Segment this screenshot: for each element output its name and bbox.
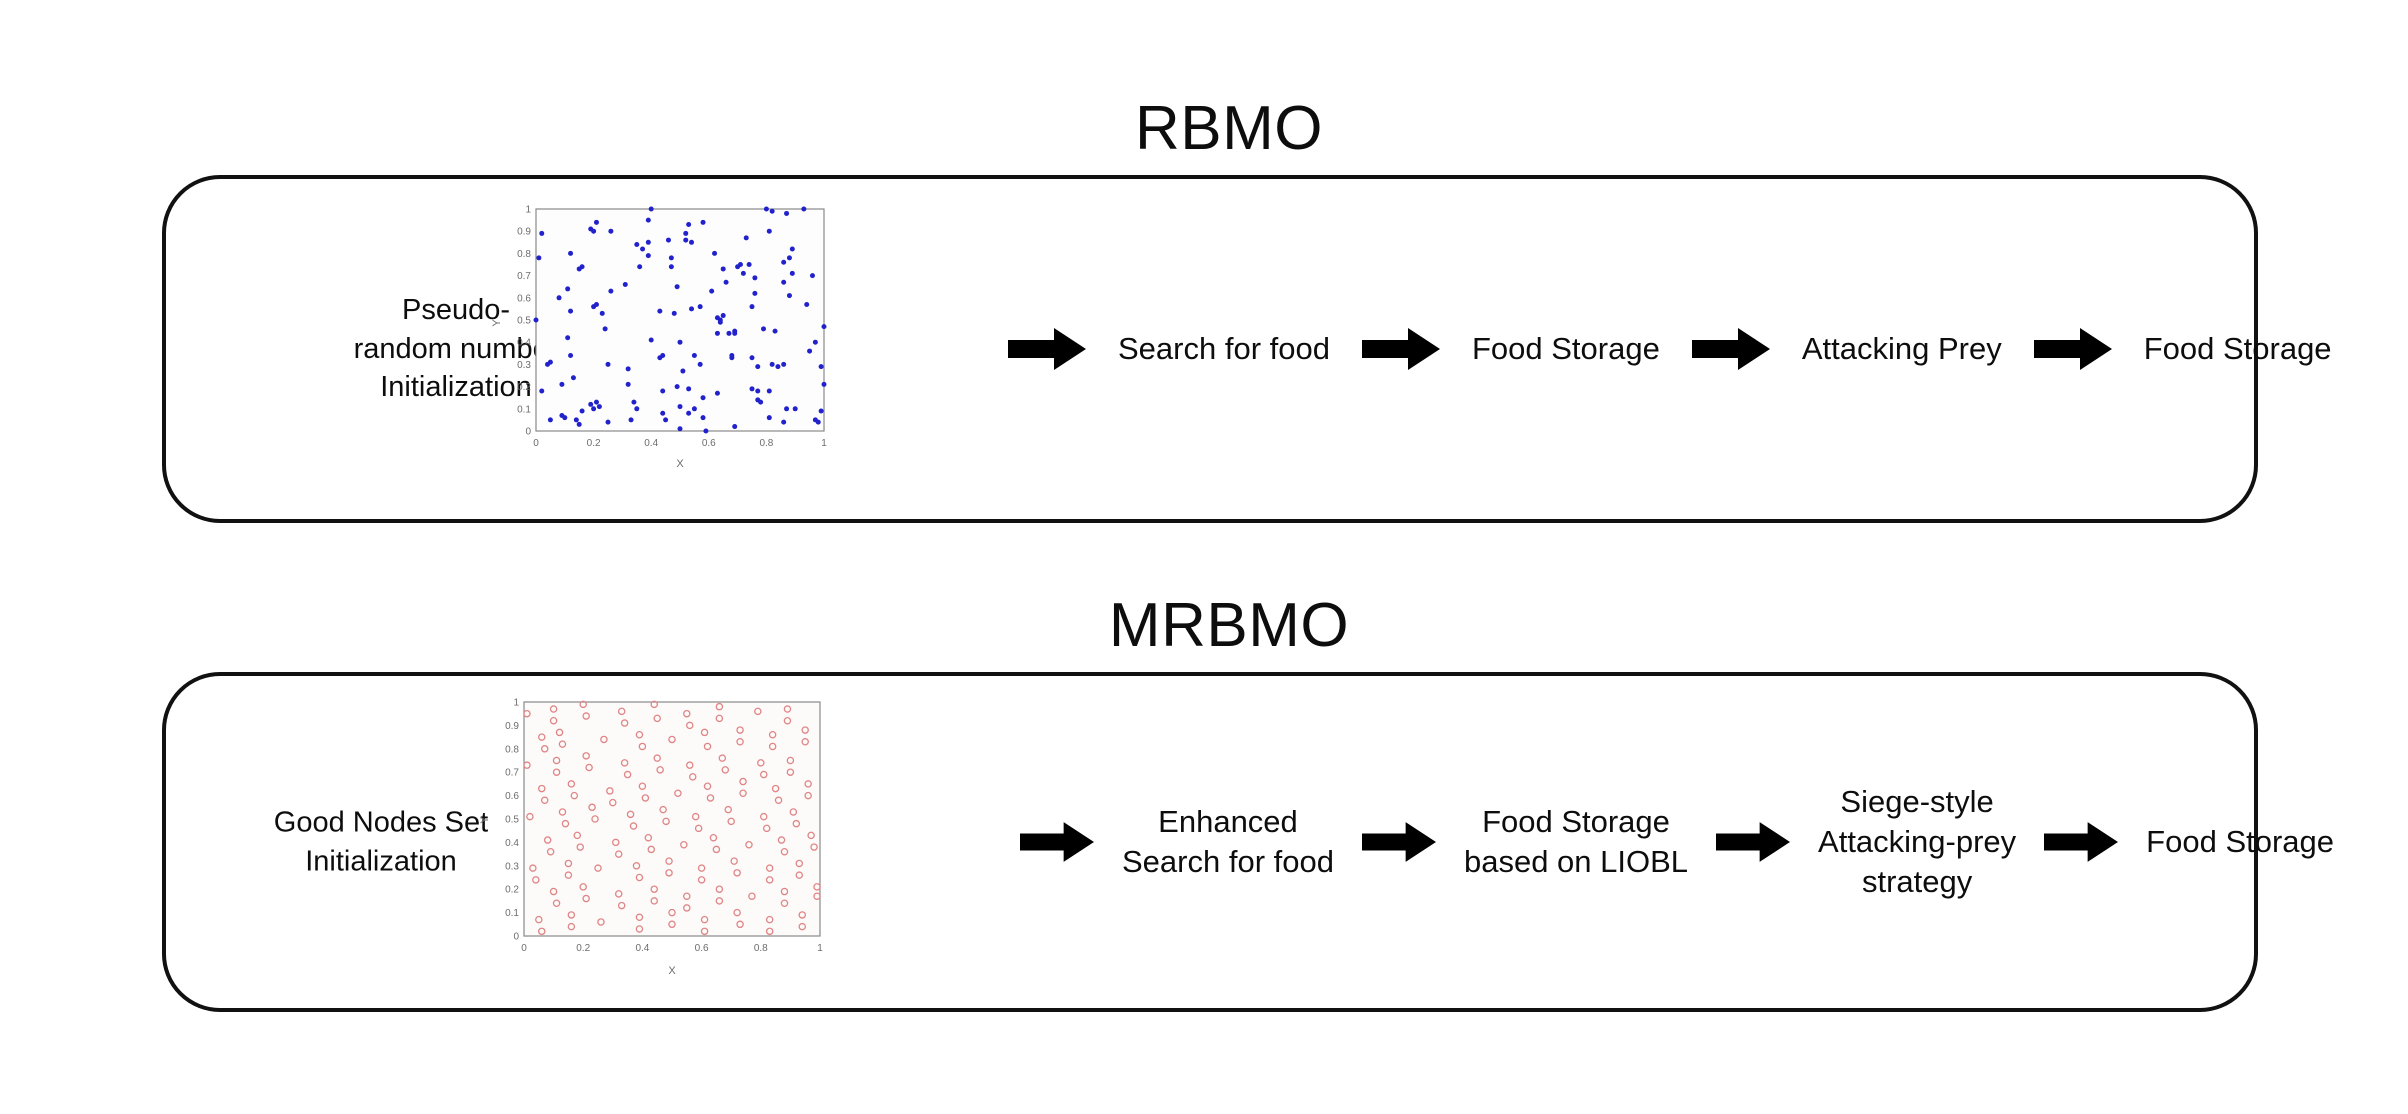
- svg-text:0.4: 0.4: [505, 838, 519, 849]
- svg-text:0.2: 0.2: [505, 885, 519, 896]
- section-title-rbmo: RBMO: [25, 98, 2408, 160]
- svg-text:1: 1: [817, 943, 823, 954]
- svg-text:1: 1: [525, 205, 531, 216]
- pipeline-row-mrbmo: Good Nodes Set Initialization 00.20.40.6…: [166, 676, 2254, 1008]
- svg-text:0.8: 0.8: [505, 744, 519, 755]
- plot-frame-rbmo: [536, 209, 824, 431]
- pipeline-step-label: Food Storage: [1472, 329, 1660, 369]
- arrow-right-icon: [1008, 326, 1086, 372]
- svg-text:0.9: 0.9: [517, 227, 531, 238]
- svg-text:0.6: 0.6: [517, 293, 531, 304]
- pipeline-step-label: Food Storage: [2144, 329, 2332, 369]
- pipeline-step-label: Enhanced Search for food: [1122, 802, 1334, 881]
- svg-text:0.2: 0.2: [576, 943, 590, 954]
- plot-yaxis-label-mrbmo: Y: [479, 816, 491, 824]
- svg-text:0.7: 0.7: [517, 271, 531, 282]
- svg-text:0: 0: [513, 932, 519, 943]
- arrow-right-icon: [1020, 820, 1094, 864]
- plot-xaxis-label-rbmo: X: [676, 458, 684, 470]
- svg-text:0.8: 0.8: [759, 438, 773, 449]
- svg-text:0.5: 0.5: [517, 316, 531, 327]
- svg-text:0.3: 0.3: [517, 360, 531, 371]
- pipeline-step-label: Food Storage based on LIOBL: [1464, 802, 1688, 881]
- svg-text:0.2: 0.2: [517, 382, 531, 393]
- svg-text:1: 1: [821, 438, 827, 449]
- svg-text:0: 0: [525, 427, 531, 438]
- arrow-right-icon: [2044, 820, 2118, 864]
- svg-text:0.1: 0.1: [505, 908, 519, 919]
- pipeline-row-rbmo: Pseudo- random number Initialization 00.…: [166, 179, 2254, 519]
- svg-text:0.5: 0.5: [505, 815, 519, 826]
- pipeline-step-label: Siege-style Attacking-prey strategy: [1818, 782, 2016, 901]
- scatter-plot-svg-mrbmo: 00.20.40.60.81 00.10.20.30.40.50.60.70.8…: [466, 688, 844, 990]
- scatter-plot-svg-rbmo: 00.20.40.60.81 00.10.20.30.40.50.60.70.8…: [478, 195, 838, 481]
- section-title-mrbmo: MRBMO: [25, 595, 2408, 657]
- plot-frame-mrbmo: [524, 702, 820, 936]
- plot-xaxis-label-mrbmo: X: [668, 965, 676, 977]
- svg-text:0.7: 0.7: [505, 768, 519, 779]
- scatter-plot-random-initialization: 00.20.40.60.81 00.10.20.30.40.50.60.70.8…: [478, 195, 838, 481]
- svg-text:1: 1: [513, 698, 519, 709]
- svg-text:0: 0: [521, 943, 527, 954]
- arrow-right-icon: [1362, 820, 1436, 864]
- arrow-right-icon: [1362, 326, 1440, 372]
- svg-text:0.9: 0.9: [505, 721, 519, 732]
- svg-text:0.2: 0.2: [587, 438, 601, 449]
- svg-text:0.6: 0.6: [702, 438, 716, 449]
- pipeline-box-mrbmo: Good Nodes Set Initialization 00.20.40.6…: [162, 672, 2258, 1012]
- svg-text:0.6: 0.6: [505, 791, 519, 802]
- pipeline-step-label: Search for food: [1118, 329, 1330, 369]
- scatter-plot-good-nodes-set: 00.20.40.60.81 00.10.20.30.40.50.60.70.8…: [466, 688, 844, 990]
- svg-text:0.4: 0.4: [517, 338, 531, 349]
- svg-text:0.1: 0.1: [517, 404, 531, 415]
- pipeline-steps-mrbmo: Enhanced Search for food Food Storage ba…: [1014, 676, 2236, 1008]
- diagram-canvas: RBMO Pseudo- random number Initializatio…: [0, 0, 2408, 1114]
- svg-text:0: 0: [533, 438, 539, 449]
- svg-text:0.6: 0.6: [695, 943, 709, 954]
- svg-text:0.3: 0.3: [505, 861, 519, 872]
- svg-text:0.8: 0.8: [517, 249, 531, 260]
- arrow-right-icon: [1692, 326, 1770, 372]
- arrow-right-icon: [2034, 326, 2112, 372]
- arrow-right-icon: [1716, 820, 1790, 864]
- pipeline-step-label: Attacking Prey: [1802, 329, 2002, 369]
- pipeline-step-label: Food Storage: [2146, 822, 2334, 862]
- pipeline-steps-rbmo: Search for food Food Storage Attacking P…: [1002, 179, 2228, 519]
- svg-text:0.4: 0.4: [635, 943, 649, 954]
- plot-yaxis-label-rbmo: Y: [491, 319, 503, 327]
- pipeline-box-rbmo: Pseudo- random number Initialization 00.…: [162, 175, 2258, 523]
- svg-text:0.4: 0.4: [644, 438, 658, 449]
- svg-text:0.8: 0.8: [754, 943, 768, 954]
